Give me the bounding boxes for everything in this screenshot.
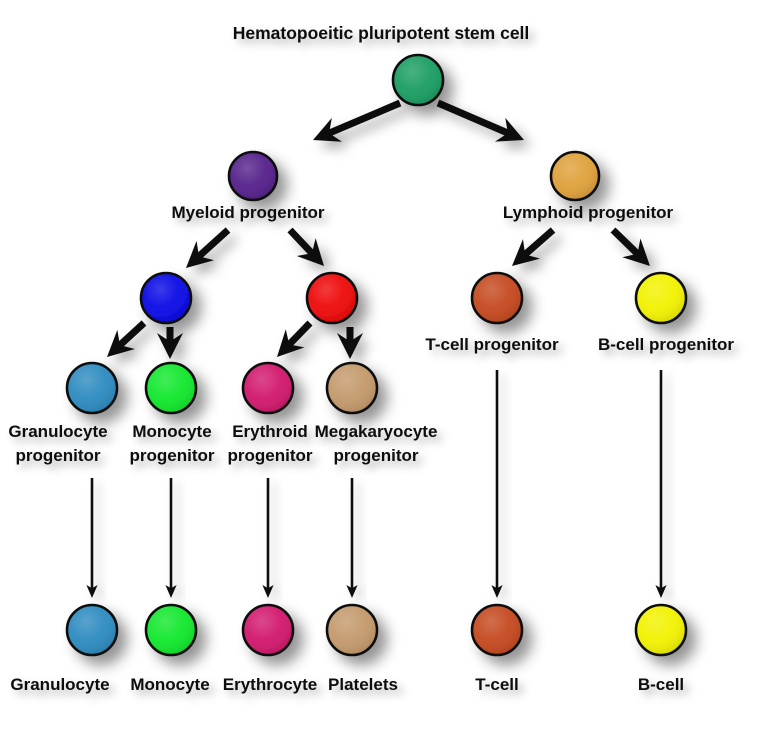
myeloid-progenitor-label: Myeloid progenitor bbox=[172, 203, 325, 222]
erythrocyte-label: Erythrocyte bbox=[223, 675, 317, 694]
granulocyte-label: Granulocyte bbox=[10, 675, 109, 694]
platelets-sheen bbox=[328, 606, 375, 653]
megakaryocyte-progenitor-label: Megakaryocyteprogenitor bbox=[315, 422, 438, 465]
granulocyte-progenitor-label-line: progenitor bbox=[16, 446, 101, 465]
bcell-label: B-cell bbox=[638, 675, 684, 694]
monocyte-label: Monocyte bbox=[130, 675, 209, 694]
cell-platelets[interactable] bbox=[327, 605, 377, 655]
arrow-erythroid-progenitor-to-erythrocyte bbox=[262, 478, 273, 598]
bcell-progenitor-label: B-cell progenitor bbox=[598, 335, 734, 354]
page-title: Hematopoeitic pluripotent stem cell bbox=[233, 23, 530, 43]
arrow-shaft bbox=[327, 103, 400, 134]
hematopoiesis-diagram: Myeloid progenitorLymphoid progenitorGra… bbox=[0, 0, 762, 736]
platelets-label: Platelets bbox=[328, 675, 398, 694]
diagram-canvas: Myeloid progenitorLymphoid progenitorGra… bbox=[0, 0, 762, 736]
arrow-shaft bbox=[118, 323, 144, 347]
cell-myeloid-progenitor[interactable] bbox=[229, 152, 277, 200]
stem-cell-sheen bbox=[394, 56, 441, 103]
arrow-myeloid-to-red bbox=[290, 230, 324, 266]
cell-erythrocyte[interactable] bbox=[243, 605, 293, 655]
megakaryocyte-progenitor-label-line: progenitor bbox=[334, 446, 419, 465]
arrow-lymphoid-to-tcell bbox=[512, 230, 553, 266]
cell-tcell[interactable] bbox=[472, 605, 522, 655]
arrow-monocyte-progenitor-to-monocyte bbox=[165, 478, 176, 598]
cell-stem-cell[interactable] bbox=[393, 55, 443, 105]
erythroid-progenitor-label: Erythroidprogenitor bbox=[228, 422, 313, 465]
bcell-progenitor-label-line: B-cell progenitor bbox=[598, 335, 734, 354]
monocyte-progenitor-label: Monocyteprogenitor bbox=[130, 422, 215, 465]
cell-megakaryocyte-progenitor[interactable] bbox=[327, 363, 377, 413]
node-layer bbox=[67, 55, 686, 655]
granulocyte-progenitor-sheen bbox=[68, 364, 115, 411]
tcell-label: T-cell bbox=[475, 675, 518, 694]
tcell-sheen bbox=[473, 606, 520, 653]
tcell-progenitor-label: T-cell progenitor bbox=[425, 335, 559, 354]
myeloid-progenitor-sheen bbox=[230, 153, 275, 198]
granulocyte-progenitor-label-line: Granulocyte bbox=[8, 422, 107, 441]
cell-bcell-progenitor[interactable] bbox=[636, 273, 686, 323]
erythroid-progenitor-sheen bbox=[244, 364, 291, 411]
cell-granulocyte[interactable] bbox=[67, 605, 117, 655]
cell-lymphoid-progenitor[interactable] bbox=[551, 152, 599, 200]
monocyte-label-line: Monocyte bbox=[130, 675, 209, 694]
bcell-label-line: B-cell bbox=[638, 675, 684, 694]
lymphoid-progenitor-label-line: Lymphoid progenitor bbox=[503, 203, 674, 222]
arrow-stem-to-myeloid bbox=[313, 103, 400, 142]
myeloid-progenitor-label-line: Myeloid progenitor bbox=[172, 203, 325, 222]
arrow-stem-to-lymphoid bbox=[438, 103, 524, 142]
arrow-shaft bbox=[290, 230, 313, 255]
granulocyte-sheen bbox=[68, 606, 115, 653]
arrow-shaft bbox=[197, 230, 228, 258]
bcell-sheen bbox=[637, 606, 684, 653]
myeloid-blue-intermediate-sheen bbox=[142, 274, 189, 321]
myeloid-red-intermediate-sheen bbox=[308, 274, 355, 321]
arrow-lymphoid-to-bcell bbox=[613, 230, 650, 266]
monocyte-progenitor-sheen bbox=[147, 364, 194, 411]
megakaryocyte-progenitor-label-line: Megakaryocyte bbox=[315, 422, 438, 441]
erythroid-progenitor-label-line: Erythroid bbox=[232, 422, 308, 441]
lymphoid-progenitor-label: Lymphoid progenitor bbox=[503, 203, 674, 222]
tcell-progenitor-label-line: T-cell progenitor bbox=[425, 335, 559, 354]
arrow-megakaryocyte-progenitor-to-platelets bbox=[346, 478, 357, 598]
arrow-granulocyte-progenitor-to-granulocyte bbox=[86, 478, 97, 598]
arrow-bcell-progenitor-to-bcell bbox=[655, 370, 666, 598]
cell-granulocyte-progenitor[interactable] bbox=[67, 363, 117, 413]
erythrocyte-sheen bbox=[244, 606, 291, 653]
cell-erythroid-progenitor[interactable] bbox=[243, 363, 293, 413]
bcell-progenitor-sheen bbox=[637, 274, 684, 321]
cell-bcell[interactable] bbox=[636, 605, 686, 655]
erythroid-progenitor-label-line: progenitor bbox=[228, 446, 313, 465]
arrow-tcell-progenitor-to-tcell bbox=[491, 370, 502, 598]
cell-myeloid-blue-intermediate[interactable] bbox=[141, 273, 191, 323]
arrow-shaft bbox=[438, 103, 510, 134]
monocyte-progenitor-label-line: Monocyte bbox=[132, 422, 211, 441]
monocyte-sheen bbox=[147, 606, 194, 653]
arrow-red-to-erythroid-progenitor bbox=[277, 323, 310, 357]
tcell-label-line: T-cell bbox=[475, 675, 518, 694]
monocyte-progenitor-label-line: progenitor bbox=[130, 446, 215, 465]
cell-monocyte[interactable] bbox=[146, 605, 196, 655]
arrow-blue-to-monocyte-progenitor bbox=[157, 327, 183, 359]
cell-tcell-progenitor[interactable] bbox=[472, 273, 522, 323]
arrow-shaft bbox=[288, 323, 310, 346]
cell-monocyte-progenitor[interactable] bbox=[146, 363, 196, 413]
granulocyte-progenitor-label: Granulocyteprogenitor bbox=[8, 422, 107, 465]
granulocyte-label-line: Granulocyte bbox=[10, 675, 109, 694]
megakaryocyte-progenitor-sheen bbox=[328, 364, 375, 411]
tcell-progenitor-sheen bbox=[473, 274, 520, 321]
arrow-red-to-megakaryocyte-progenitor bbox=[337, 327, 363, 359]
erythrocyte-label-line: Erythrocyte bbox=[223, 675, 317, 694]
arrow-myeloid-to-blue bbox=[186, 230, 228, 268]
lymphoid-progenitor-sheen bbox=[552, 153, 597, 198]
arrow-shaft bbox=[613, 230, 639, 255]
platelets-label-line: Platelets bbox=[328, 675, 398, 694]
arrow-shaft bbox=[524, 230, 553, 256]
cell-myeloid-red-intermediate[interactable] bbox=[307, 273, 357, 323]
arrow-blue-to-granulocyte-progenitor bbox=[107, 323, 144, 357]
